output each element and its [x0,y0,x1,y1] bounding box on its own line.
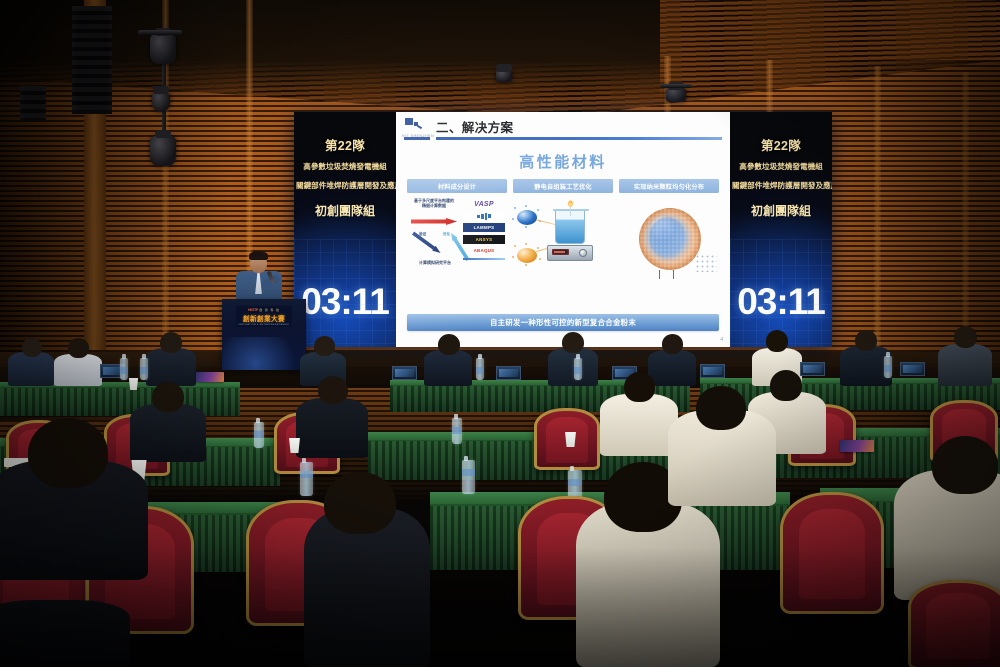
lighting-truss [138,30,182,35]
audience-head [770,370,802,401]
slide-header: HIT SHENZHEN 二、解决方案 [396,112,730,144]
audience-head [160,332,182,353]
water-bottle [254,422,264,448]
audience-head [68,338,89,358]
audience-person [130,404,206,462]
nanoparticle-lattice-dots [695,254,717,272]
team-number: 第22隊 [730,135,832,154]
program-booklet [840,440,874,452]
panel-3-diagram [619,198,719,284]
water-bottle [140,358,148,380]
nanocomposite-sphere-icon [639,208,701,270]
abaqus-logo-icon: ABAQUS [463,246,505,255]
project-title-line1: 高參數垃圾焚燒發電機組 [730,161,832,173]
slide-bottom-banner: 自主研发一种形性可控的新型复合合金粉末 [407,314,719,331]
team-category: 初創團隊組 [730,202,832,219]
led-video-wall: 第22隊 高參數垃圾焚燒發電機組 關鍵部件堆焊防護層開發及應用 初創團隊組 03… [294,112,832,347]
institution-logo-icon [405,118,424,133]
process-panels: 材料成分设计 基于多尺度平台构建的精细计算数据 验证 优化 计算模拟研究平台 V… [396,172,730,284]
audience-head [624,372,655,402]
audience-head [324,472,396,534]
water-bottle [452,418,462,444]
panel-uniform-nanoparticle-distribution: 实现纳米颗粒均匀化分布 [619,179,719,284]
header-rule-stub [404,137,430,140]
note-simulation-platform: 计算模拟研究平台 [409,260,461,265]
stage-light-fixture [150,136,176,166]
table-row [0,382,240,416]
conference-hall-scene: 第22隊 高參數垃圾焚燒發電機組 關鍵部件堆焊防護層開發及應用 初創團隊組 03… [0,0,1000,667]
presentation-slide: HIT SHENZHEN 二、解决方案 高性能材料 材料成分设计 基于多尺度平台… [396,112,730,347]
laptop [392,366,417,380]
audience-head [696,386,746,430]
panel-caption: 材料成分设计 [407,179,507,193]
line-array-speaker [72,6,112,114]
blue-particle-halo [512,205,542,231]
laptop [900,362,925,376]
signage-main-text: 創新創業大賽 [243,313,285,323]
stage-light-fixture [152,92,170,112]
stage-light-fixture [150,34,176,64]
audience-person [938,344,992,386]
audience-head [932,436,998,494]
audience-head [22,338,42,357]
laptop [800,362,825,376]
laptop [496,366,521,380]
arrow-navy-validate [411,231,442,256]
laptop [700,364,725,378]
stage-light-fixture [666,88,686,102]
signage-tiny-text: INNOVATION & ENTREPRENEURSHIP [239,324,290,326]
audience-person [600,394,678,456]
audience-head [562,332,584,353]
audience-person [648,350,696,386]
program-booklet [196,372,224,382]
abaqus-underline [463,258,505,260]
water-bottle [120,358,128,380]
ansys-logo-icon: ANSYS [463,235,505,244]
audience-head [314,336,335,356]
signage-top-row: HKSTP 創 新 科 技 [248,308,280,312]
orange-particle-halo [512,243,542,269]
audience-person [54,354,102,386]
audience-person [146,348,196,386]
magnetic-stirrer-hotplate-icon [547,245,593,261]
nano-pointer-tick [673,270,674,279]
project-title-line2: 關鍵部件堆焊防護層開發及應用 [730,180,832,192]
signage-small-text: 創 新 科 技 [259,308,280,312]
water-bottle [462,460,475,494]
slide-section-title: 二、解决方案 [436,117,513,136]
bottom-banner-text: 自主研发一种形性可控的新型复合合金粉末 [490,317,636,328]
slide-main-heading: 高性能材料 [396,151,730,172]
project-title-line2: 關鍵部件堆焊防護層開發及應用 [294,180,396,192]
panel-2-diagram [513,198,613,284]
team-number: 第22隊 [294,135,396,154]
table-skirt [0,388,240,416]
water-bottle [574,358,582,380]
signage-badge: HKSTP [248,308,258,312]
slide-page-number: 4 [720,337,723,343]
bar-chart-icon [463,212,505,221]
presenter-hair [249,251,268,260]
countdown-timer: 03:11 [730,281,832,323]
audience-head [855,330,877,351]
audience-person [0,600,130,667]
lammps-logo-icon: LAMMPS [463,223,505,232]
audience-head [766,330,788,352]
vasp-logo-icon: VASP [463,200,505,209]
hotplate-display [552,249,569,255]
audience-head [662,334,683,354]
audience-head [438,334,460,355]
water-bottle [884,356,892,378]
lectern: HKSTP 創 新 科 技 創新創業大賽 INNOVATION & ENTREP… [222,299,306,370]
flame-icon [568,200,573,207]
arrow-red-forward [411,218,457,225]
lighting-truss [660,84,692,88]
led-right-team-panel: 第22隊 高參數垃圾焚燒發電機組 關鍵部件堆焊防護層開發及應用 初創團隊組 03… [730,112,832,347]
banquet-chair [780,492,884,614]
arrow-label-validate: 验证 [419,232,426,237]
note-multiscale-platform: 基于多尺度平台构建的精细计算数据 [409,198,459,209]
audience-head [318,376,348,404]
panel-material-composition-design: 材料成分设计 基于多尺度平台构建的精细计算数据 验证 优化 计算模拟研究平台 V… [407,179,507,284]
stage-light-fixture [496,70,512,82]
panel-caption: 静电自组装工艺优化 [513,179,613,193]
nano-pointer-tick [659,270,660,279]
audience-head [152,382,184,412]
hotplate-knob [579,249,587,257]
project-title-line1: 高參數垃圾焚燒發電機組 [294,161,396,173]
audience-person [424,350,472,386]
audience-person [8,352,54,386]
arrow-label-optimize: 优化 [443,232,450,237]
water-bottle [300,462,313,496]
podium-and-presenter: HKSTP 創 新 科 技 創新創業大賽 INNOVATION & ENTREP… [212,245,324,370]
wall-speaker [20,86,46,120]
lectern-signage: HKSTP 創 新 科 技 創新創業大賽 INNOVATION & ENTREP… [236,306,292,327]
audience-head [954,326,977,348]
team-category: 初創團隊組 [294,202,396,219]
water-bottle [476,358,484,380]
panel-electrostatic-assembly-optimization: 静电自组装工艺优化 [513,179,613,284]
software-logo-stack: VASP LAMMPS ANSYS ABAQUS [463,200,505,260]
banquet-chair [908,580,1000,667]
audience-person [296,398,368,458]
audience-head [28,418,108,488]
audience-person [548,348,598,386]
panel-caption: 实现纳米颗粒均匀化分布 [619,179,719,193]
header-rule [436,137,722,140]
panel-1-diagram: 基于多尺度平台构建的精细计算数据 验证 优化 计算模拟研究平台 VASP [407,198,507,284]
